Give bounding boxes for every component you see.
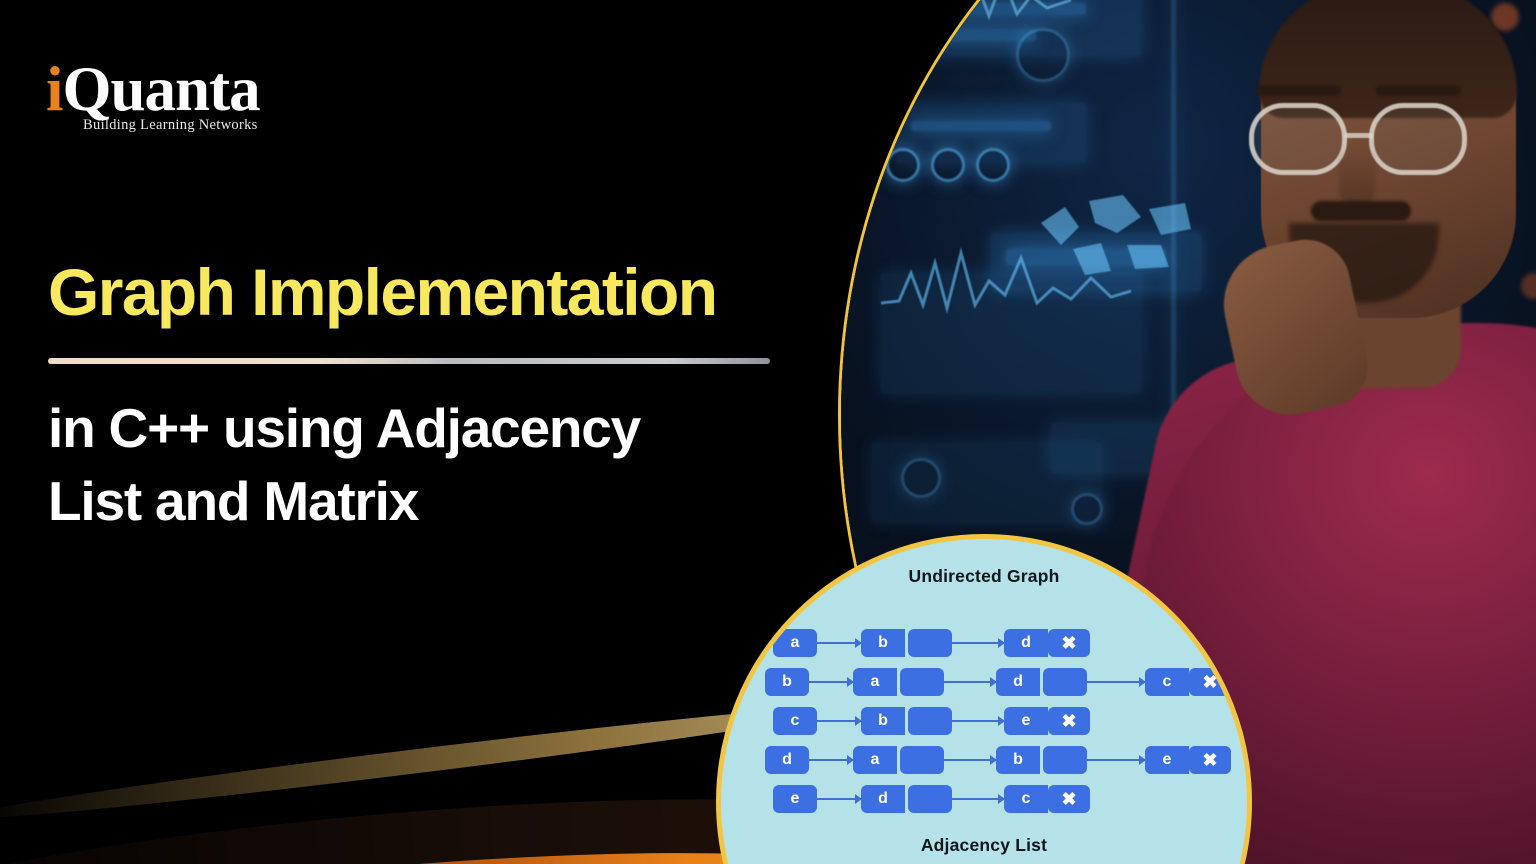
person-moustache <box>1311 201 1411 221</box>
adjacency-node-pointer <box>908 785 952 813</box>
adjacency-pointer-arrow <box>817 720 861 722</box>
person-nose <box>1339 148 1375 208</box>
adjacency-node: c✖ <box>1004 785 1090 813</box>
adjacency-node: e✖ <box>1145 746 1231 774</box>
adjacency-node-pointer <box>908 629 952 657</box>
title-divider <box>48 358 770 364</box>
adjacency-node-value: d <box>996 668 1040 696</box>
adjacency-pointer-arrow <box>1087 759 1145 761</box>
adjacency-node: b <box>861 707 952 735</box>
holo-ring-icon <box>976 148 1010 182</box>
page-subtitle: in C++ using Adjacency List and Matrix <box>48 392 848 537</box>
adjacency-null-terminator: ✖ <box>1189 746 1231 774</box>
adjacency-pointer-arrow <box>952 642 1004 644</box>
glasses-icon <box>1249 103 1347 175</box>
adjacency-node: a <box>853 746 944 774</box>
person-hair <box>1259 0 1517 118</box>
adjacency-pointer-arrow <box>952 720 1004 722</box>
brand-logo-rest: Quanta <box>63 58 260 121</box>
page-subtitle-line1: in C++ using Adjacency <box>48 392 848 465</box>
person-eyebrow <box>1256 85 1341 96</box>
adjacency-node-pointer <box>908 707 952 735</box>
adjacency-pointer-arrow <box>944 681 996 683</box>
adjacency-node: e✖ <box>1004 707 1090 735</box>
adjacency-row: cbe✖ <box>721 701 1247 740</box>
adjacency-node-value: d <box>861 785 905 813</box>
adjacency-node-value: a <box>853 746 897 774</box>
adjacency-row: dabe✖ <box>721 740 1247 779</box>
adjacency-node: d <box>861 785 952 813</box>
adjacency-node-value: e <box>1004 707 1048 735</box>
diagram-heading: Undirected Graph <box>721 566 1247 587</box>
adjacency-node: a <box>853 668 944 696</box>
adjacency-node: d✖ <box>1004 629 1090 657</box>
adjacency-node-value: b <box>861 629 905 657</box>
adjacency-pointer-arrow <box>944 759 996 761</box>
adjacency-rows: abd✖badc✖cbe✖dabe✖edc✖ <box>721 623 1247 818</box>
adjacency-node-pointer <box>900 746 944 774</box>
adjacency-pointer-arrow <box>809 681 853 683</box>
adjacency-node: b <box>861 629 952 657</box>
poster-canvas: i Quanta Building Learning Networks Grap… <box>0 0 1536 864</box>
adjacency-pointer-arrow <box>817 798 861 800</box>
adjacency-null-terminator: ✖ <box>1048 629 1090 657</box>
adjacency-pointer-arrow <box>1087 681 1145 683</box>
holo-ring-icon <box>931 148 965 182</box>
adjacency-diagram: Undirected Graph abd✖badc✖cbe✖dabe✖edc✖ … <box>716 534 1252 864</box>
glasses-icon <box>1369 103 1467 175</box>
brand-logo-i: i <box>46 58 63 121</box>
page-title: Graph Implementation <box>48 258 848 328</box>
adjacency-node-value: b <box>996 746 1040 774</box>
adjacency-node-value: b <box>861 707 905 735</box>
adjacency-node: d <box>996 668 1087 696</box>
person-eyebrow <box>1376 85 1461 96</box>
adjacency-head-node: b <box>765 668 809 696</box>
holo-bar <box>916 29 1036 41</box>
adjacency-pointer-arrow <box>817 642 861 644</box>
adjacency-head-node: a <box>773 629 817 657</box>
adjacency-pointer-arrow <box>952 798 1004 800</box>
adjacency-null-terminator: ✖ <box>1048 785 1090 813</box>
adjacency-head-node: c <box>773 707 817 735</box>
adjacency-node-pointer <box>1043 746 1087 774</box>
holo-waveform <box>951 0 1071 28</box>
holo-bar <box>911 121 1051 131</box>
adjacency-row: abd✖ <box>721 623 1247 662</box>
adjacency-node-pointer <box>900 668 944 696</box>
holo-ring-icon <box>901 458 941 498</box>
adjacency-node-value: a <box>853 668 897 696</box>
adjacency-row: edc✖ <box>721 779 1247 818</box>
holo-ring-icon <box>1071 493 1103 525</box>
adjacency-head-node: e <box>773 785 817 813</box>
adjacency-pointer-arrow <box>809 759 853 761</box>
adjacency-node-pointer <box>1043 668 1087 696</box>
adjacency-row: badc✖ <box>721 662 1247 701</box>
adjacency-node-value: e <box>1145 746 1189 774</box>
adjacency-null-terminator: ✖ <box>1048 707 1090 735</box>
adjacency-node: c✖ <box>1145 668 1231 696</box>
page-subtitle-line2: List and Matrix <box>48 465 848 538</box>
hero-text-block: Graph Implementation in C++ using Adjace… <box>48 258 848 537</box>
adjacency-head-node: d <box>765 746 809 774</box>
glasses-bridge <box>1345 133 1373 138</box>
adjacency-node: b <box>996 746 1087 774</box>
holo-ring-icon <box>1016 28 1070 82</box>
brand-logo[interactable]: i Quanta Building Learning Networks <box>46 58 260 134</box>
holo-ring-icon <box>886 148 920 182</box>
adjacency-node-value: c <box>1145 668 1189 696</box>
diagram-caption: Adjacency List <box>721 835 1247 856</box>
adjacency-null-terminator: ✖ <box>1189 668 1231 696</box>
adjacency-node-value: c <box>1004 785 1048 813</box>
brand-logo-wordmark: i Quanta <box>46 58 260 121</box>
adjacency-node-value: d <box>1004 629 1048 657</box>
